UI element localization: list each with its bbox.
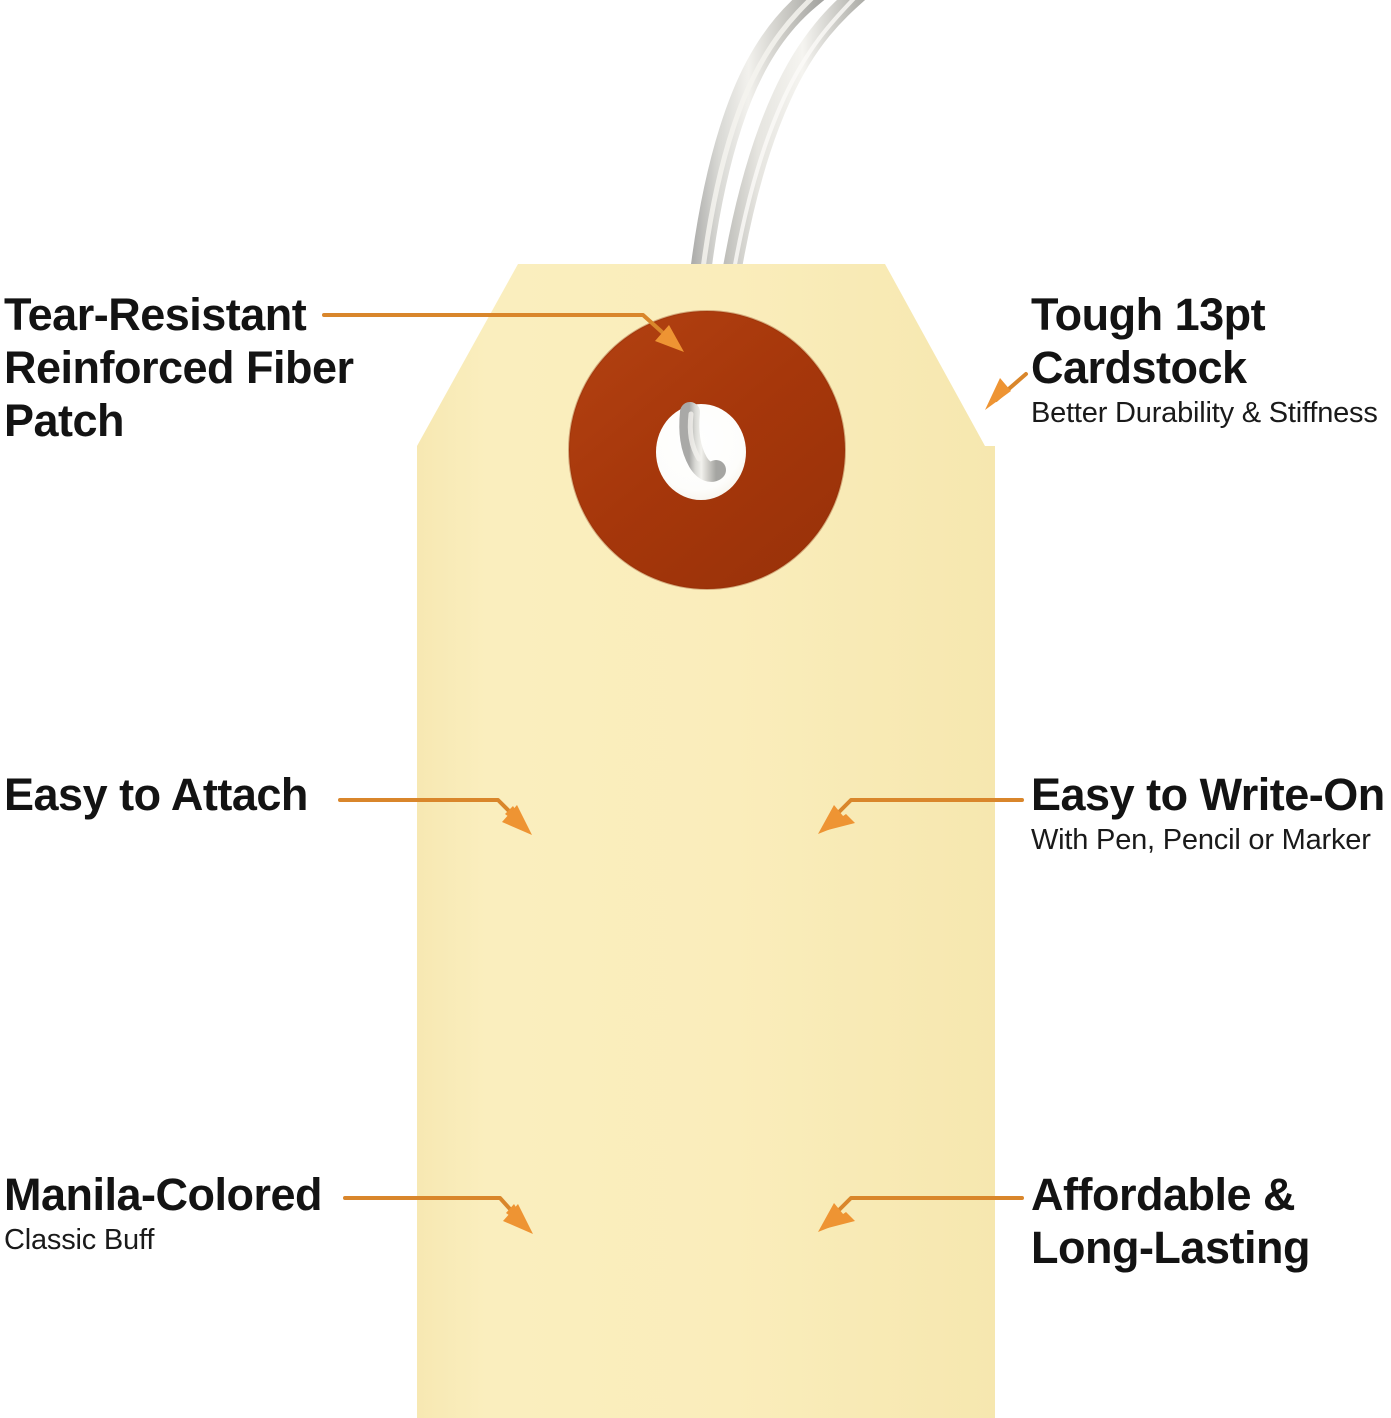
callout-easy-attach: Easy to Attach xyxy=(4,768,424,821)
callout-affordable-title: Affordable & Long-Lasting xyxy=(1031,1168,1391,1274)
callout-manila-title: Manila-Colored xyxy=(4,1168,424,1221)
callout-affordable: Affordable & Long-Lasting xyxy=(1031,1168,1391,1274)
callout-cardstock-title: Tough 13pt Cardstock xyxy=(1031,288,1391,394)
callout-write-on-title: Easy to Write-On xyxy=(1031,768,1391,821)
callout-cardstock: Tough 13pt Cardstock Better Durability &… xyxy=(1031,288,1391,430)
callout-easy-attach-title: Easy to Attach xyxy=(4,768,424,821)
callout-write-on-subtitle: With Pen, Pencil or Marker xyxy=(1031,823,1391,857)
infographic-canvas: Tear-Resistant Reinforced Fiber Patch To… xyxy=(0,0,1391,1418)
callout-write-on: Easy to Write-On With Pen, Pencil or Mar… xyxy=(1031,768,1391,857)
callout-cardstock-subtitle: Better Durability & Stiffness xyxy=(1031,396,1391,430)
callout-tear-resistant-title: Tear-Resistant Reinforced Fiber Patch xyxy=(4,288,424,447)
callout-manila-subtitle: Classic Buff xyxy=(4,1223,424,1257)
callout-tear-resistant: Tear-Resistant Reinforced Fiber Patch xyxy=(4,288,424,447)
callout-manila: Manila-Colored Classic Buff xyxy=(4,1168,424,1257)
